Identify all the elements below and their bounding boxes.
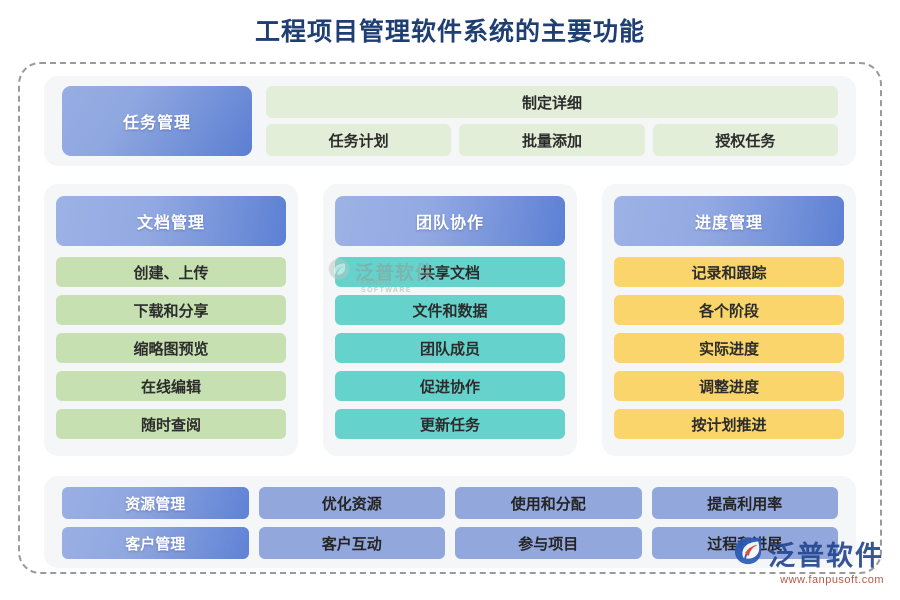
bottom-item[interactable]: 优化资源 bbox=[259, 487, 446, 519]
column-header-collaboration[interactable]: 团队协作 bbox=[335, 196, 565, 246]
bottom-row-customer: 客户管理 客户互动 参与项目 过程和进展 bbox=[62, 527, 838, 559]
bottom-item[interactable]: 使用和分配 bbox=[455, 487, 642, 519]
bottom-lead-customer[interactable]: 客户管理 bbox=[62, 527, 249, 559]
page-title: 工程项目管理软件系统的主要功能 bbox=[0, 12, 900, 48]
column-item[interactable]: 团队成员 bbox=[335, 333, 565, 363]
corner-watermark-url: www.fanpusoft.com bbox=[780, 574, 884, 586]
column-item[interactable]: 调整进度 bbox=[614, 371, 844, 401]
column-item[interactable]: 随时查阅 bbox=[56, 409, 286, 439]
bottom-item[interactable]: 客户互动 bbox=[259, 527, 446, 559]
bottom-section-panel: 资源管理 优化资源 使用和分配 提高利用率 客户管理 客户互动 参与项目 过程和… bbox=[44, 476, 856, 568]
column-item[interactable]: 共享文档 bbox=[335, 257, 565, 287]
top-feature-item[interactable]: 批量添加 bbox=[459, 124, 644, 156]
column-item[interactable]: 下载和分享 bbox=[56, 295, 286, 325]
column-panel-document: 文档管理 创建、上传 下载和分享 缩略图预览 在线编辑 随时查阅 bbox=[44, 184, 298, 456]
bottom-item[interactable]: 参与项目 bbox=[455, 527, 642, 559]
column-item[interactable]: 文件和数据 bbox=[335, 295, 565, 325]
top-feature-row: 任务计划 批量添加 授权任务 bbox=[266, 124, 838, 156]
column-item[interactable]: 缩略图预览 bbox=[56, 333, 286, 363]
column-list-progress: 记录和跟踪 各个阶段 实际进度 调整进度 按计划推进 bbox=[614, 257, 844, 439]
bottom-item[interactable]: 过程和进展 bbox=[652, 527, 839, 559]
column-header-document[interactable]: 文档管理 bbox=[56, 196, 286, 246]
bottom-item[interactable]: 提高利用率 bbox=[652, 487, 839, 519]
top-feature-group: 制定详细 任务计划 批量添加 授权任务 bbox=[266, 86, 838, 156]
column-list-collaboration: 共享文档 文件和数据 团队成员 促进协作 更新任务 bbox=[335, 257, 565, 439]
column-item[interactable]: 更新任务 bbox=[335, 409, 565, 439]
column-item[interactable]: 记录和跟踪 bbox=[614, 257, 844, 287]
column-item[interactable]: 实际进度 bbox=[614, 333, 844, 363]
column-panel-collaboration: 团队协作 共享文档 文件和数据 团队成员 促进协作 更新任务 bbox=[323, 184, 577, 456]
column-panel-progress: 进度管理 记录和跟踪 各个阶段 实际进度 调整进度 按计划推进 bbox=[602, 184, 856, 456]
infographic-root: 工程项目管理软件系统的主要功能 任务管理 制定详细 任务计划 批量添加 授权任务… bbox=[0, 0, 900, 600]
column-list-document: 创建、上传 下载和分享 缩略图预览 在线编辑 随时查阅 bbox=[56, 257, 286, 439]
column-header-progress[interactable]: 进度管理 bbox=[614, 196, 844, 246]
top-section-panel: 任务管理 制定详细 任务计划 批量添加 授权任务 bbox=[44, 76, 856, 166]
column-item[interactable]: 在线编辑 bbox=[56, 371, 286, 401]
top-feature-item[interactable]: 授权任务 bbox=[653, 124, 838, 156]
bottom-row-resource: 资源管理 优化资源 使用和分配 提高利用率 bbox=[62, 487, 838, 519]
column-item[interactable]: 创建、上传 bbox=[56, 257, 286, 287]
column-item[interactable]: 按计划推进 bbox=[614, 409, 844, 439]
top-main-category[interactable]: 任务管理 bbox=[62, 86, 252, 156]
top-wide-feature[interactable]: 制定详细 bbox=[266, 86, 838, 118]
column-item[interactable]: 促进协作 bbox=[335, 371, 565, 401]
column-item[interactable]: 各个阶段 bbox=[614, 295, 844, 325]
bottom-lead-resource[interactable]: 资源管理 bbox=[62, 487, 249, 519]
top-feature-item[interactable]: 任务计划 bbox=[266, 124, 451, 156]
